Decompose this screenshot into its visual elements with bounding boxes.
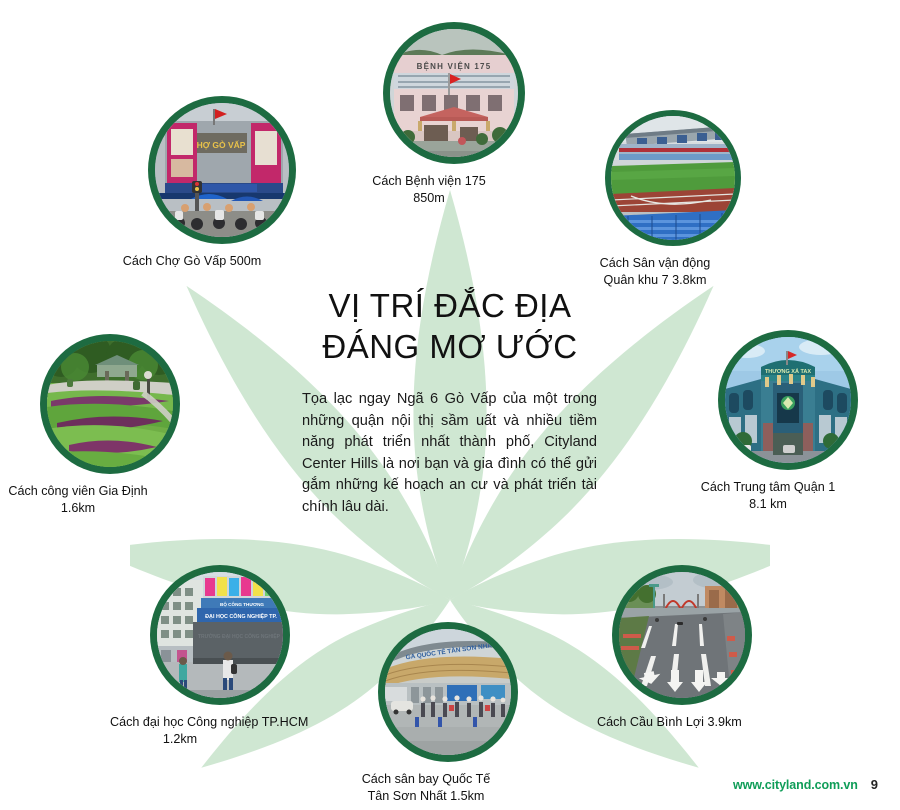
caption-quan-1: Cách Trung tâm Quận 1 8.1 km bbox=[698, 479, 838, 512]
caption-dai-hoc: Cách đại học Công nghiệp TP.HCM 1.2km bbox=[110, 714, 250, 747]
photo-san-bay-tan-son-nhat: GA QUỐC TẾ TÂN SƠN NHẤT bbox=[385, 629, 511, 755]
photo-cho-go-vap: CHỢ GÒ VẤP bbox=[155, 103, 289, 237]
location-node-san-van-dong[interactable]: Cách Sân vận động Quân khu 7 3.8km bbox=[605, 110, 741, 288]
location-node-cho-go-vap[interactable]: CHỢ GÒ VẤP bbox=[148, 96, 296, 270]
photo-ring-san-van-dong bbox=[605, 110, 741, 246]
caption-line-2: 8.1 km bbox=[698, 496, 838, 513]
svg-text:BỘ CÔNG THƯƠNG: BỘ CÔNG THƯƠNG bbox=[220, 600, 264, 607]
photo-cau-binh-loi bbox=[619, 572, 745, 698]
caption-line-2: 850m bbox=[358, 190, 500, 207]
title-line-1: VỊ TRÍ ĐẮC ĐỊA bbox=[329, 287, 572, 324]
caption-san-van-dong: Cách Sân vận động Quân khu 7 3.8km bbox=[587, 255, 723, 288]
location-node-san-bay[interactable]: GA QUỐC TẾ TÂN SƠN NHẤT bbox=[378, 622, 518, 804]
caption-line-1: Cách Trung tâm Quận 1 bbox=[701, 480, 835, 494]
photo-dai-hoc-cong-nghiep: BỘ CÔNG THƯƠNG ĐẠI HỌC CÔNG NGHIỆP TP. T… bbox=[157, 572, 283, 698]
photo-ring-san-bay: GA QUỐC TẾ TÂN SƠN NHẤT bbox=[378, 622, 518, 762]
photo-cong-vien-gia-dinh bbox=[47, 341, 173, 467]
svg-text:ĐẠI HỌC CÔNG NGHIỆP TP.: ĐẠI HỌC CÔNG NGHIỆP TP. bbox=[205, 612, 277, 620]
center-text-block: VỊ TRÍ ĐẮC ĐỊA ĐÁNG MƠ ƯỚC Tọa lạc ngay … bbox=[290, 285, 610, 518]
page-title: VỊ TRÍ ĐẮC ĐỊA ĐÁNG MƠ ƯỚC bbox=[290, 285, 610, 367]
photo-ring-quan-1: THƯƠNG XÁ TAX bbox=[718, 330, 858, 470]
caption-line-1: Cách Chợ Gò Vấp 500m bbox=[123, 254, 261, 268]
svg-text:TRƯỜNG ĐẠI HỌC CÔNG NGHIỆP: TRƯỜNG ĐẠI HỌC CÔNG NGHIỆP bbox=[198, 632, 281, 640]
photo-ring-benh-vien: BỆNH VIỆN 175 bbox=[383, 22, 525, 164]
page-number: 9 bbox=[871, 777, 878, 792]
caption-line-2: 1.2km bbox=[110, 731, 250, 748]
svg-text:CHỢ GÒ VẤP: CHỢ GÒ VẤP bbox=[191, 139, 246, 150]
caption-line-1: Cách sân bay Quốc Tế bbox=[362, 772, 491, 786]
photo-benh-vien-175: BỆNH VIỆN 175 bbox=[390, 29, 518, 157]
title-line-2: ĐÁNG MƠ ƯỚC bbox=[290, 326, 610, 367]
caption-benh-vien-175: Cách Bệnh viện 175 850m bbox=[358, 173, 500, 206]
caption-line-1: Cách Cầu Bình Lợi 3.9km bbox=[597, 715, 742, 729]
caption-cong-vien-gia-dinh: Cách công viên Gia Định 1.6km bbox=[8, 483, 148, 516]
caption-line-2: Tân Sơn Nhất 1.5km bbox=[356, 788, 496, 805]
photo-san-van-dong bbox=[611, 116, 735, 240]
photo-ring-dai-hoc: BỘ CÔNG THƯƠNG ĐẠI HỌC CÔNG NGHIỆP TP. T… bbox=[150, 565, 290, 705]
caption-line-2: 1.6km bbox=[8, 500, 148, 517]
website-link[interactable]: www.cityland.com.vn bbox=[733, 778, 858, 792]
location-node-cong-vien-gia-dinh[interactable]: Cách công viên Gia Định 1.6km bbox=[40, 334, 180, 516]
caption-san-bay: Cách sân bay Quốc Tế Tân Sơn Nhất 1.5km bbox=[356, 771, 496, 804]
caption-line-1: Cách Bệnh viện 175 bbox=[372, 174, 485, 188]
location-node-cau-binh-loi[interactable]: Cách Cầu Bình Lợi 3.9km bbox=[612, 565, 752, 731]
location-node-quan-1[interactable]: THƯƠNG XÁ TAX bbox=[718, 330, 858, 512]
caption-line-1: Cách công viên Gia Định bbox=[8, 484, 147, 498]
svg-text:BỆNH VIỆN 175: BỆNH VIỆN 175 bbox=[417, 62, 492, 71]
location-node-benh-vien-175[interactable]: BỆNH VIỆN 175 bbox=[383, 22, 525, 206]
svg-text:THƯƠNG XÁ TAX: THƯƠNG XÁ TAX bbox=[765, 368, 811, 375]
caption-cau-binh-loi: Cách Cầu Bình Lợi 3.9km bbox=[597, 714, 737, 731]
photo-ring-cho-go-vap: CHỢ GÒ VẤP bbox=[148, 96, 296, 244]
caption-line-1: Cách đại học Công nghiệp TP.HCM bbox=[110, 715, 308, 729]
body-paragraph: Tọa lạc ngay Ngã 6 Gò Vấp của một trong … bbox=[302, 389, 597, 518]
photo-trung-tam-quan-1: THƯƠNG XÁ TAX bbox=[725, 337, 851, 463]
brochure-page: CHỢ GÒ VẤP bbox=[0, 0, 900, 810]
caption-cho-go-vap: Cách Chợ Gò Vấp 500m bbox=[118, 253, 266, 270]
location-node-dai-hoc[interactable]: BỘ CÔNG THƯƠNG ĐẠI HỌC CÔNG NGHIỆP TP. T… bbox=[150, 565, 290, 747]
footer: www.cityland.com.vn 9 bbox=[733, 777, 878, 792]
photo-ring-cong-vien bbox=[40, 334, 180, 474]
caption-line-1: Cách Sân vận động bbox=[600, 256, 711, 270]
photo-ring-cau-binh-loi bbox=[612, 565, 752, 705]
